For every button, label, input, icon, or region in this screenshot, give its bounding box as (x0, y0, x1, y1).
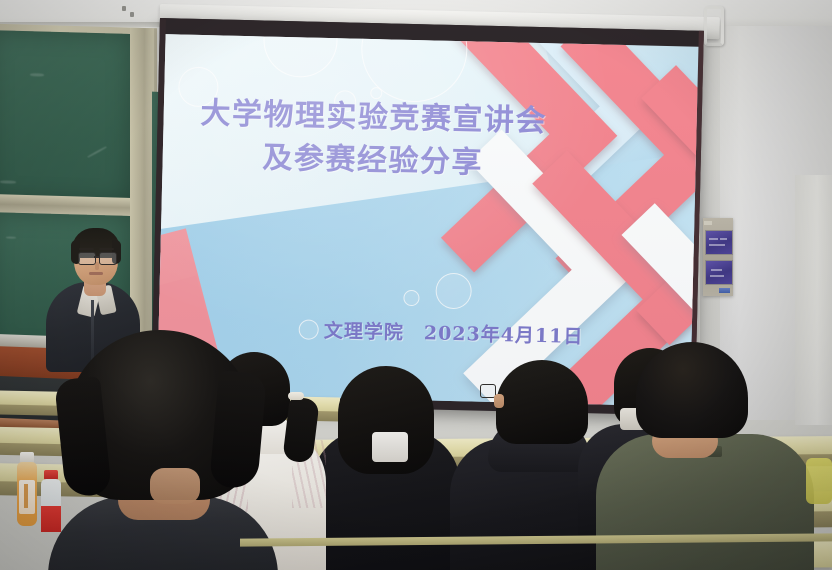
presentation-slide: 大学物理实验竞赛宣讲会 及参赛经验分享 文理学院 2023年4月11日 (157, 34, 698, 406)
bottle-juice (16, 452, 38, 526)
slide-title: 大学物理实验竞赛宣讲会 及参赛经验分享 (162, 92, 584, 187)
student-1-nape (150, 468, 200, 504)
panel-button[interactable] (719, 288, 730, 293)
student-4-hair (496, 360, 588, 444)
ceiling-bolt (130, 12, 134, 17)
presenter-nose (95, 262, 99, 270)
panel-display-bottom (705, 260, 733, 285)
student-2-hair-tie-right (288, 392, 304, 400)
bottle-label (41, 506, 61, 532)
av-control-panel[interactable] (703, 218, 733, 296)
panel-tick-label (704, 221, 712, 225)
screen-mount-bracket (704, 6, 724, 46)
bottle-water (40, 470, 62, 532)
student-6-bag (806, 458, 832, 504)
panel-display-top (705, 230, 733, 255)
chalkboard-upper-pane (0, 30, 130, 204)
glasses-bridge-icon (94, 256, 99, 258)
bottle-label-text (24, 484, 28, 508)
glasses-lens-left-icon (78, 252, 96, 265)
presenter-mouth (89, 272, 103, 275)
glasses-lens-right-icon (99, 252, 117, 265)
student-3-shirt-patch (372, 432, 408, 462)
lecture-hall-photo: 大学物理实验竞赛宣讲会 及参赛经验分享 文理学院 2023年4月11日 (0, 0, 832, 570)
ceiling-bolt (122, 6, 126, 11)
student-4-ear (494, 394, 504, 408)
projection-screen: 大学物理实验竞赛宣讲会 及参赛经验分享 文理学院 2023年4月11日 (151, 18, 704, 416)
wall-corner (795, 175, 832, 425)
